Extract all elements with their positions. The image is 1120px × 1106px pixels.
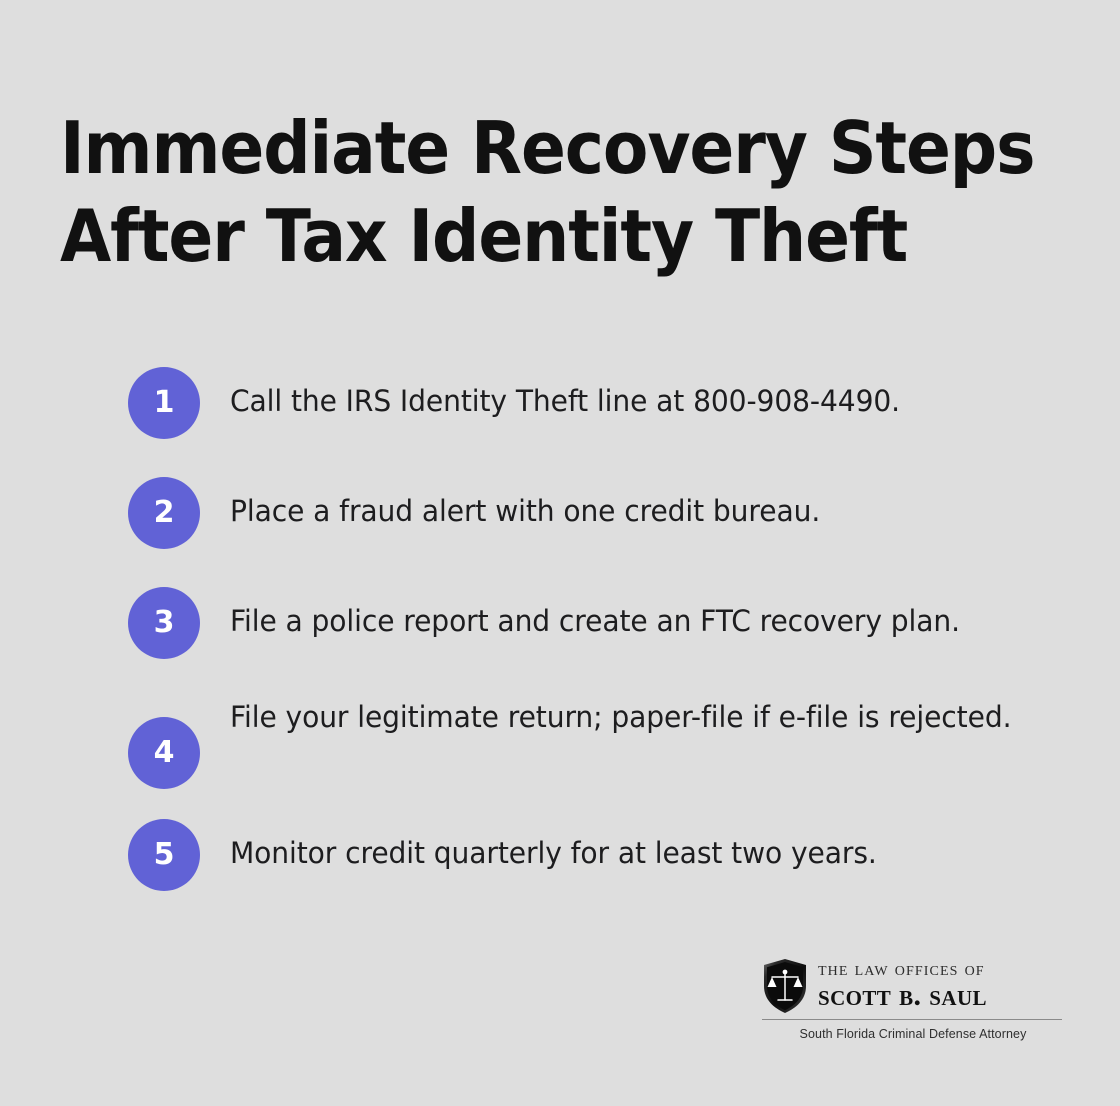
list-item: 1 Call the IRS Identity Theft line at 80… xyxy=(128,367,1058,439)
step-text: Monitor credit quarterly for at least tw… xyxy=(230,819,1033,873)
logo-tagline: South Florida Criminal Defense Attorney xyxy=(762,1027,1064,1041)
step-text: File a police report and create an FTC r… xyxy=(230,587,1033,641)
list-item: 5 Monitor credit quarterly for at least … xyxy=(128,819,1058,891)
page-title: Immediate Recovery Steps After Tax Ident… xyxy=(60,104,960,280)
infographic-canvas: Immediate Recovery Steps After Tax Ident… xyxy=(0,0,1120,1106)
logo-divider xyxy=(762,1019,1062,1020)
recovery-steps-list: 1 Call the IRS Identity Theft line at 80… xyxy=(128,367,1058,891)
step-text: Place a fraud alert with one credit bure… xyxy=(230,477,1033,531)
step-number-badge: 3 xyxy=(128,587,200,659)
logo-line-the-law-offices-of: The Law Offices of xyxy=(818,958,1064,980)
step-number-badge: 4 xyxy=(128,717,200,789)
step-number-badge: 1 xyxy=(128,367,200,439)
list-item: 3 File a police report and create an FTC… xyxy=(128,587,1058,659)
list-item: 4 File your legitimate return; paper-fil… xyxy=(128,697,1058,789)
logo-main-row: The Law Offices of Scott B. Saul xyxy=(762,958,1064,1014)
step-number-badge: 2 xyxy=(128,477,200,549)
step-number-badge: 5 xyxy=(128,819,200,891)
page-title-line-1: Immediate Recovery Steps xyxy=(60,104,888,192)
step-text: Call the IRS Identity Theft line at 800-… xyxy=(230,367,1033,421)
logo-wordmark: The Law Offices of Scott B. Saul xyxy=(818,958,1064,1014)
logo-line-scott-b-saul: Scott B. Saul xyxy=(818,980,1064,1012)
page-title-line-2: After Tax Identity Theft xyxy=(60,192,888,280)
shield-scales-of-justice-icon xyxy=(762,958,808,1014)
list-item: 2 Place a fraud alert with one credit bu… xyxy=(128,477,1058,549)
law-firm-logo: The Law Offices of Scott B. Saul South F… xyxy=(762,958,1064,1041)
step-text: File your legitimate return; paper-file … xyxy=(230,697,1033,737)
